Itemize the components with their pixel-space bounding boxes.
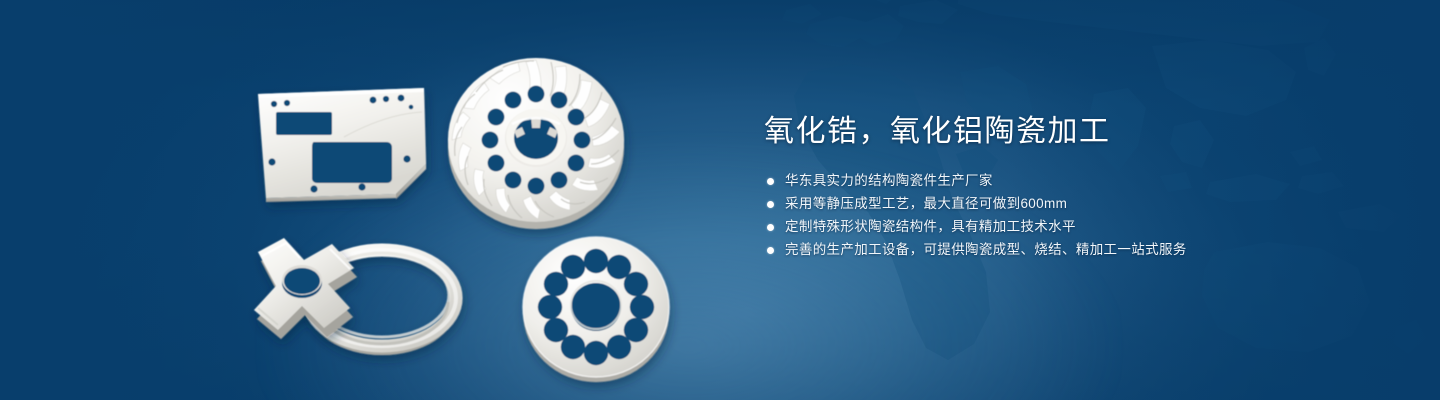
ceramic-plate (258, 88, 426, 202)
bullet-dot-icon (767, 178, 774, 185)
feature-list: 华东具实力的结构陶瓷件生产厂家 采用等静压成型工艺，最大直径可做到600mm 定… (764, 170, 1384, 261)
list-item: 华东具实力的结构陶瓷件生产厂家 (764, 170, 1384, 192)
list-item-label: 完善的生产加工设备，可提供陶瓷成型、烧结、精加工一站式服务 (785, 239, 1187, 261)
list-item: 完善的生产加工设备，可提供陶瓷成型、烧结、精加工一站式服务 (764, 239, 1384, 261)
page-title: 氧化锆，氧化铝陶瓷加工 (764, 112, 1384, 152)
list-item: 采用等静压成型工艺，最大直径可做到600mm (764, 193, 1384, 215)
list-item-label: 采用等静压成型工艺，最大直径可做到600mm (785, 193, 1067, 215)
ceramic-impeller (448, 58, 624, 229)
list-item-label: 定制特殊形状陶瓷结构件，具有精加工技术水平 (785, 216, 1076, 238)
bullet-dot-icon (767, 201, 774, 208)
bullet-dot-icon (767, 224, 774, 231)
promo-banner: 氧化锆，氧化铝陶瓷加工 华东具实力的结构陶瓷件生产厂家 采用等静压成型工艺，最大… (0, 0, 1440, 400)
list-item: 定制特殊形状陶瓷结构件，具有精加工技术水平 (764, 216, 1384, 238)
product-photo-group (236, 42, 706, 382)
ceramic-perforated-disc (523, 237, 669, 382)
banner-text-block: 氧化锆，氧化铝陶瓷加工 华东具实力的结构陶瓷件生产厂家 采用等静压成型工艺，最大… (764, 112, 1384, 262)
list-item-label: 华东具实力的结构陶瓷件生产厂家 (785, 170, 993, 192)
bullet-dot-icon (767, 247, 774, 254)
